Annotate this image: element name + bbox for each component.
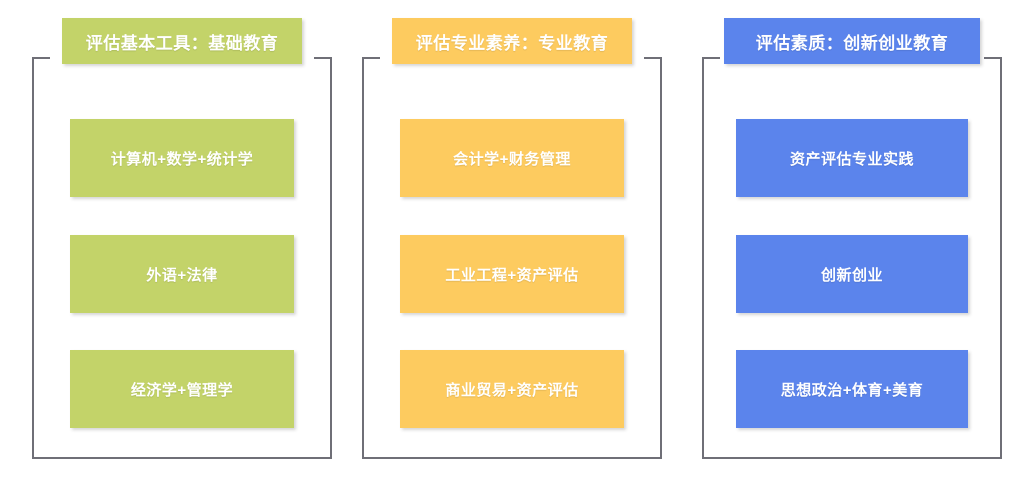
column-items-list: 计算机+数学+统计学 外语+法律 经济学+管理学 <box>32 57 332 459</box>
item-box-label: 资产评估专业实践 <box>790 148 914 169</box>
diagram-column-professional: 评估专业素养：专业教育 会计学+财务管理 工业工程+资产评估 商业贸易+资产评估 <box>362 0 662 477</box>
column-header-innovation: 评估素质：创新创业教育 <box>724 18 980 64</box>
column-header-basic-tools: 评估基本工具：基础教育 <box>62 18 302 64</box>
column-items-list: 资产评估专业实践 创新创业 思想政治+体育+美育 <box>702 57 1002 459</box>
item-box: 商业贸易+资产评估 <box>400 350 624 428</box>
column-header-label: 评估基本工具：基础教育 <box>86 29 279 54</box>
item-box-label: 外语+法律 <box>146 264 217 285</box>
column-header-label: 评估素质：创新创业教育 <box>756 29 949 54</box>
diagram-column-innovation: 评估素质：创新创业教育 资产评估专业实践 创新创业 思想政治+体育+美育 <box>702 0 1002 477</box>
item-box: 思想政治+体育+美育 <box>736 350 968 428</box>
diagram-canvas: 评估基本工具：基础教育 计算机+数学+统计学 外语+法律 经济学+管理学 评估专… <box>0 0 1024 477</box>
item-box-label: 创新创业 <box>821 264 883 285</box>
column-header-label: 评估专业素养：专业教育 <box>416 29 609 54</box>
diagram-column-basic-tools: 评估基本工具：基础教育 计算机+数学+统计学 外语+法律 经济学+管理学 <box>32 0 332 477</box>
column-items-list: 会计学+财务管理 工业工程+资产评估 商业贸易+资产评估 <box>362 57 662 459</box>
item-box-label: 商业贸易+资产评估 <box>445 379 578 400</box>
item-box: 外语+法律 <box>70 235 294 313</box>
item-box-label: 思想政治+体育+美育 <box>781 379 924 400</box>
item-box: 会计学+财务管理 <box>400 119 624 197</box>
item-box: 经济学+管理学 <box>70 350 294 428</box>
item-box: 工业工程+资产评估 <box>400 235 624 313</box>
item-box-label: 经济学+管理学 <box>131 379 233 400</box>
item-box-label: 会计学+财务管理 <box>453 148 571 169</box>
item-box-label: 工业工程+资产评估 <box>445 264 578 285</box>
item-box: 计算机+数学+统计学 <box>70 119 294 197</box>
item-box-label: 计算机+数学+统计学 <box>111 148 254 169</box>
item-box: 创新创业 <box>736 235 968 313</box>
column-header-professional: 评估专业素养：专业教育 <box>392 18 632 64</box>
item-box: 资产评估专业实践 <box>736 119 968 197</box>
